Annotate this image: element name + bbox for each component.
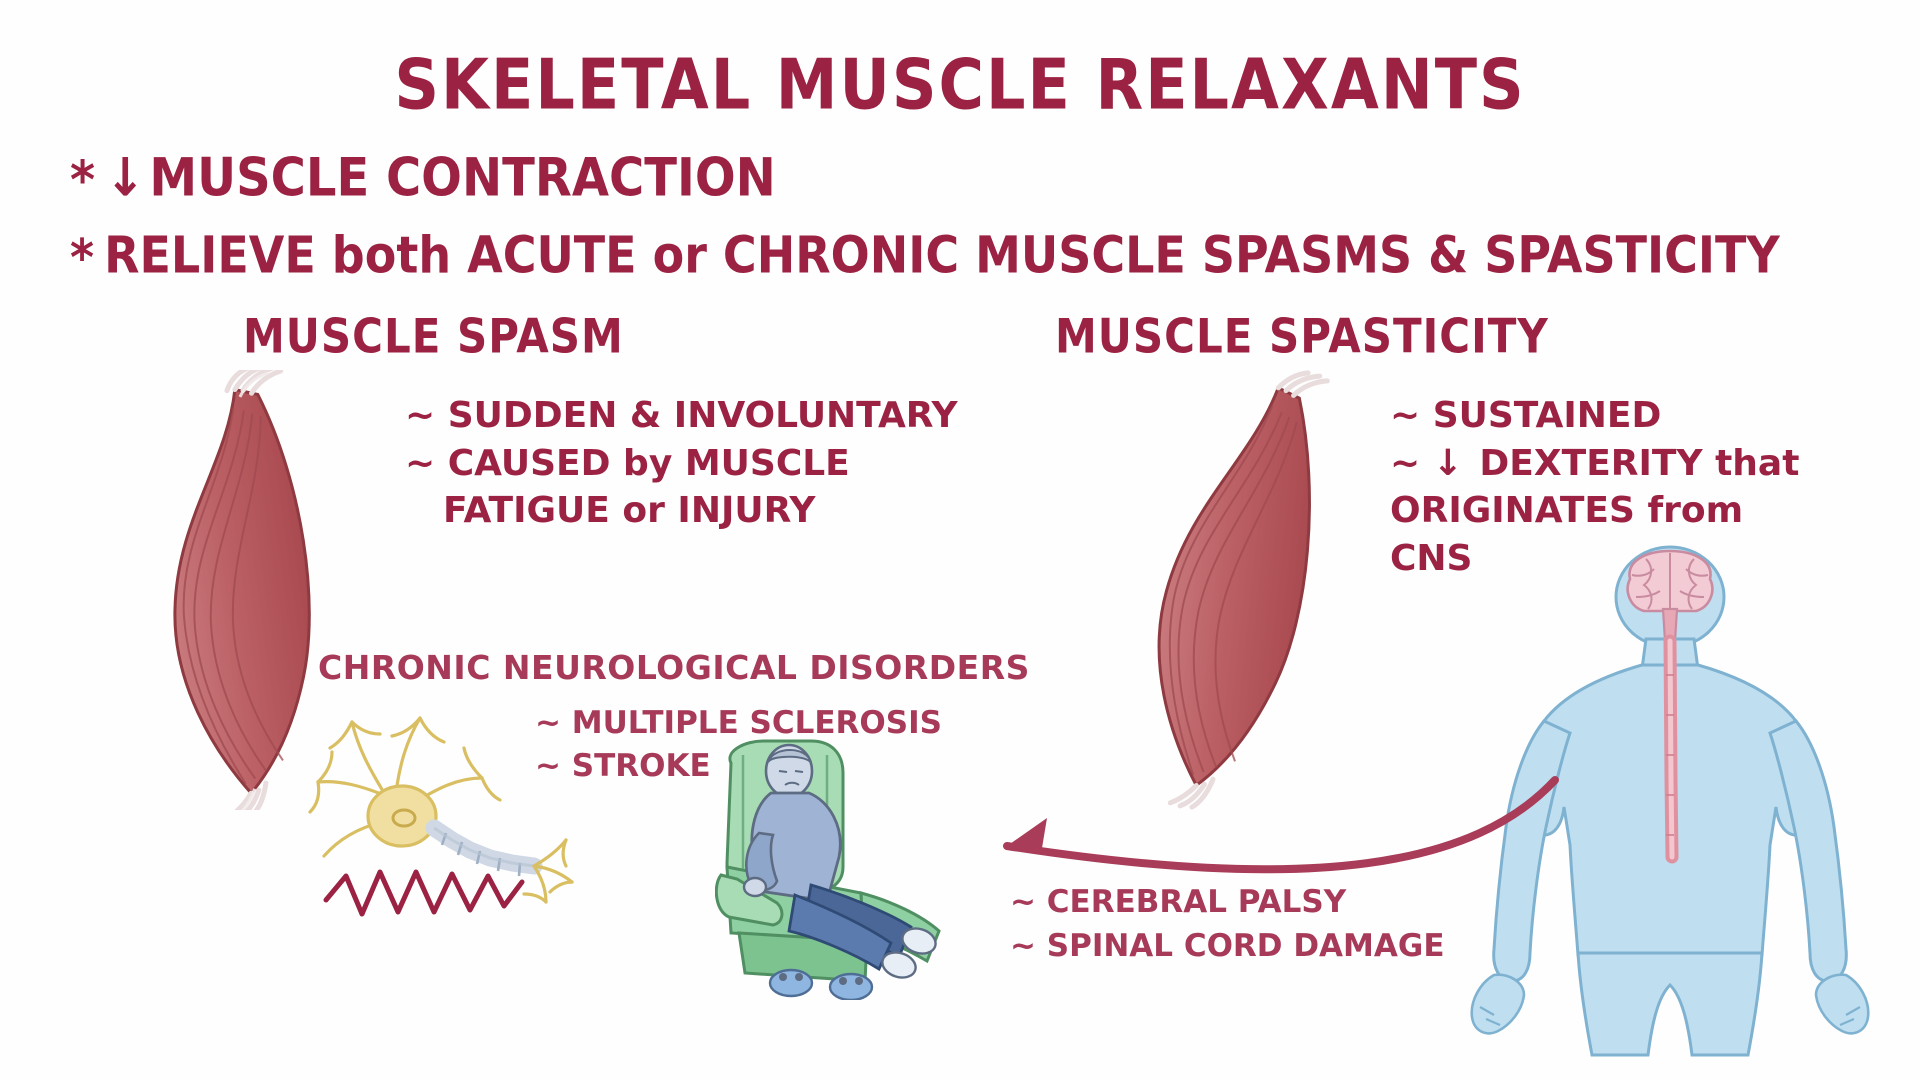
curved-arrow-icon	[955, 770, 1565, 900]
spasm-line3-or: or	[622, 490, 665, 531]
bullet2-part-relieve: RELIEVE	[104, 225, 332, 284]
list-item: FATIGUE or INJURY	[405, 487, 958, 535]
spast-line3-from: from	[1647, 490, 1743, 531]
spasm-line2-caused: ~ CAUSED	[405, 443, 623, 484]
neuron-illustration	[300, 700, 600, 940]
spast-line2-dexterity: DEXTERITY	[1467, 443, 1715, 484]
spasm-line3-injury: INJURY	[665, 490, 816, 531]
bullet2-part-acute: ACUTE	[451, 225, 653, 284]
page-title: SKELETAL MUSCLE RELAXANTS	[0, 44, 1920, 126]
spasm-line3-fatigue: FATIGUE	[443, 490, 622, 531]
main-bullet-1-label: MUSCLE CONTRACTION	[149, 147, 775, 209]
list-item: ~ SPINAL CORD DAMAGE	[1010, 924, 1445, 968]
list-item: ~ SUDDEN & INVOLUNTARY	[405, 392, 958, 440]
down-arrow-icon: ↓	[1433, 440, 1463, 488]
bullet2-part-both: both	[332, 225, 451, 284]
asterisk-icon: *	[70, 228, 94, 287]
spast-line3-originates: ORIGINATES	[1390, 490, 1647, 531]
bullet2-part-rest: CHRONIC MUSCLE SPASMS & SPASTICITY	[707, 225, 1780, 284]
spast-line2-that: that	[1715, 443, 1799, 484]
bullet2-part-or: or	[653, 225, 707, 284]
list-item: ~ ↓ DEXTERITY that	[1390, 440, 1840, 488]
patient-in-recliner-illustration	[715, 735, 985, 1000]
skeletal-muscle-spasticity-illustration	[1085, 370, 1415, 810]
spasm-line2-by: by	[623, 443, 672, 484]
asterisk-icon: *	[70, 149, 95, 211]
list-item: ORIGINATES from	[1390, 487, 1840, 535]
illustration-canvas: SKELETAL MUSCLE RELAXANTS *↓MUSCLE CONTR…	[0, 0, 1920, 1080]
main-bullet-contraction: *↓MUSCLE CONTRACTION	[70, 147, 776, 209]
section-heading-muscle-spasm: MUSCLE SPASM	[243, 309, 624, 364]
spasm-line2-muscle: MUSCLE	[672, 443, 849, 484]
list-item: ~ SUSTAINED	[1390, 392, 1840, 440]
main-bullet-relieve: *RELIEVE both ACUTE or CHRONIC MUSCLE SP…	[70, 225, 1780, 284]
section-heading-muscle-spasticity: MUSCLE SPASTICITY	[1055, 309, 1549, 364]
down-arrow-icon: ↓	[105, 147, 145, 209]
muscle-spasm-feature-list: ~ SUDDEN & INVOLUNTARY ~ CAUSED by MUSCL…	[405, 392, 958, 535]
list-item: ~ CAUSED by MUSCLE	[405, 440, 958, 488]
